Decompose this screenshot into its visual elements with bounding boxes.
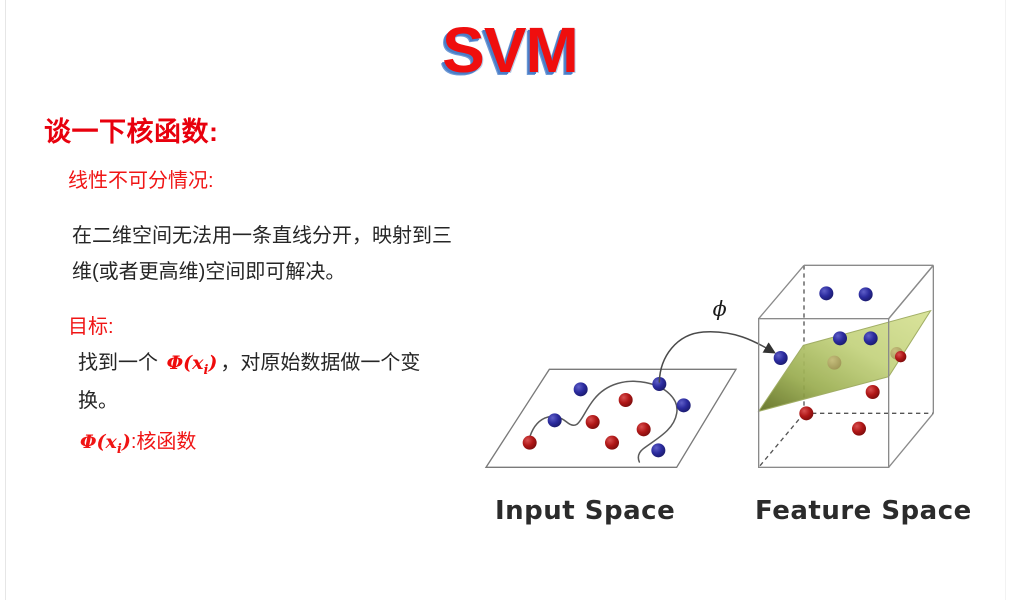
section-heading-kernel-function: 谈一下核函数: <box>44 110 219 149</box>
phi-definition-tail: ) <box>122 431 131 453</box>
kernel-function-definition: Φ(xi):核函数 <box>80 425 196 457</box>
paragraph-goal-transform: 找到一个 Φ(xi)，对原始数据做一个变换。 <box>78 345 438 420</box>
feature-space-group <box>759 265 934 467</box>
input-space-plane <box>486 369 736 467</box>
feature-space-label: Feature Space <box>755 496 972 526</box>
paragraph-mapping-explanation: 在二维空间无法用一条直线分开，映射到三维(或者更高维)空间即可解决。 <box>72 218 452 291</box>
phi-definition-formula: Φ(xi) <box>80 431 131 453</box>
input-space-label: Input Space <box>495 496 675 526</box>
page-title: SVM <box>0 18 1020 82</box>
goal-text-before: 找到一个 <box>78 352 158 374</box>
page-edge-left <box>5 0 6 600</box>
phi-definition-head: Φ(x <box>80 431 117 453</box>
input-space-group <box>486 369 736 467</box>
phi-symbol: ϕ <box>713 296 727 320</box>
cube-back-edges <box>759 265 934 318</box>
kernel-definition-text: :核函数 <box>131 431 197 453</box>
phi-formula-inline: Φ(xi) <box>164 352 221 374</box>
subheading-goal: 目标: <box>68 310 114 339</box>
phi-formula-head: Φ(x <box>167 352 204 374</box>
subheading-linearly-inseparable: 线性不可分情况: <box>68 164 214 193</box>
phi-formula-tail: ) <box>208 352 217 374</box>
